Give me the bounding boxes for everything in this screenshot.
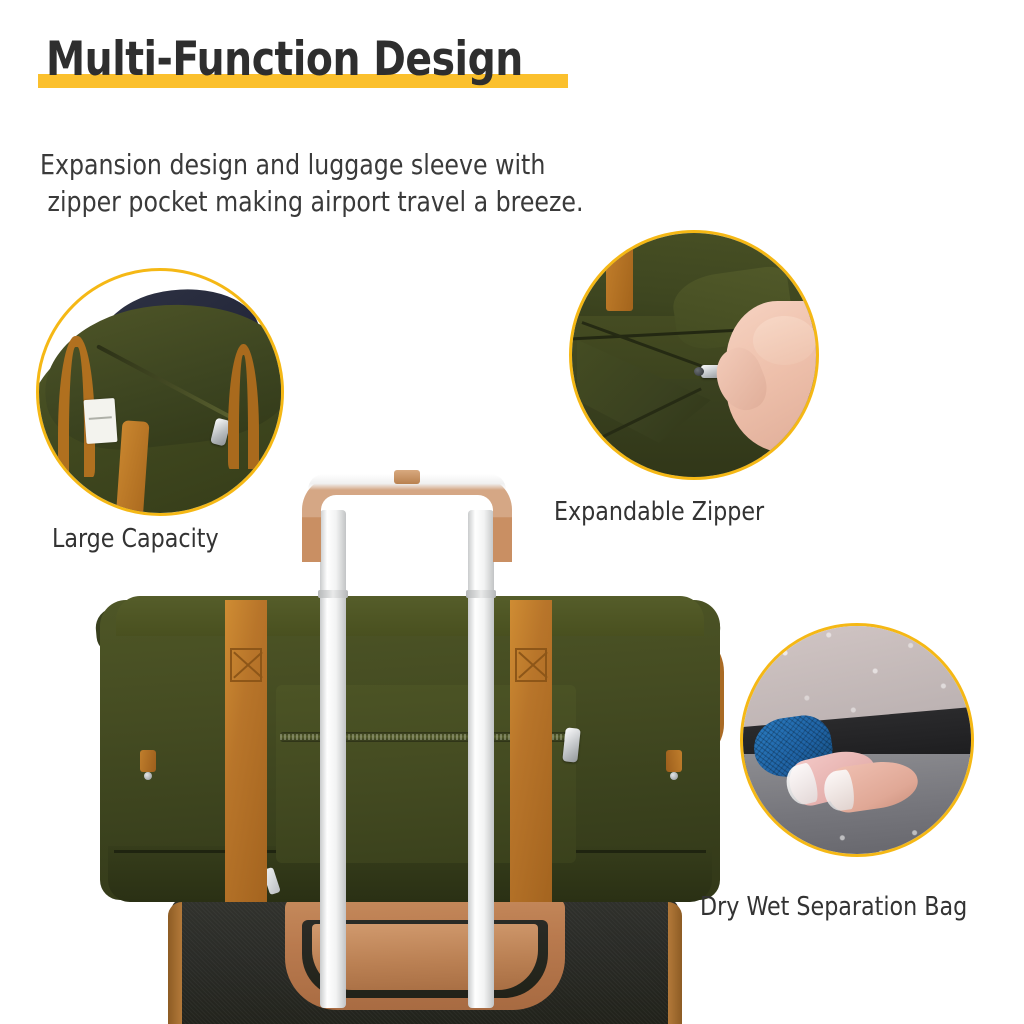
photo-large-capacity (39, 271, 281, 513)
photo-dry-wet-separation (743, 626, 971, 854)
tan-strap-tab (606, 230, 633, 311)
d-ring-left (140, 750, 156, 772)
subtitle-line-1: Expansion design and luggage sleeve with (40, 148, 545, 181)
carry-strap-left (225, 600, 267, 902)
callout-label-large-capacity: Large Capacity (52, 524, 219, 554)
handle-collar-right (466, 590, 496, 598)
duffel-top-edge (116, 596, 704, 636)
infographic-canvas: Multi-Function Design Expansion design a… (0, 0, 1024, 1024)
page-title: Multi-Function Design (46, 36, 523, 83)
subtitle-line-2: zipper pocket making airport travel a br… (40, 184, 583, 221)
handle-release-button[interactable] (394, 470, 420, 484)
page-subtitle: Expansion design and luggage sleeve with… (40, 110, 583, 258)
suitcase-trim-right (668, 902, 682, 1024)
hand-knuckles (753, 316, 816, 365)
rivet-left-icon (144, 772, 152, 780)
rivet-right-icon (670, 772, 678, 780)
strap-cross-stitch-icon (230, 648, 262, 682)
strap-cross-stitch-icon (515, 648, 547, 682)
callout-label-expandable-zipper: Expandable Zipper (554, 497, 764, 527)
callout-circle-dry-wet-separation (740, 623, 974, 857)
photo-expandable-zipper (572, 233, 816, 477)
luggage-handle-tube-left (320, 510, 346, 1008)
suitcase-trim-left (168, 902, 182, 1024)
callout-label-dry-wet-separation: Dry Wet Separation Bag (700, 892, 967, 922)
carry-strap-right (510, 600, 552, 902)
page-title-wrap: Multi-Function Design (46, 36, 559, 83)
handle-collar-left (318, 590, 348, 598)
d-ring-right (666, 750, 682, 772)
luggage-handle-tube-right (468, 510, 494, 1008)
callout-circle-expandable-zipper (569, 230, 819, 480)
callout-circle-large-capacity (36, 268, 284, 516)
brand-tag (83, 398, 117, 444)
